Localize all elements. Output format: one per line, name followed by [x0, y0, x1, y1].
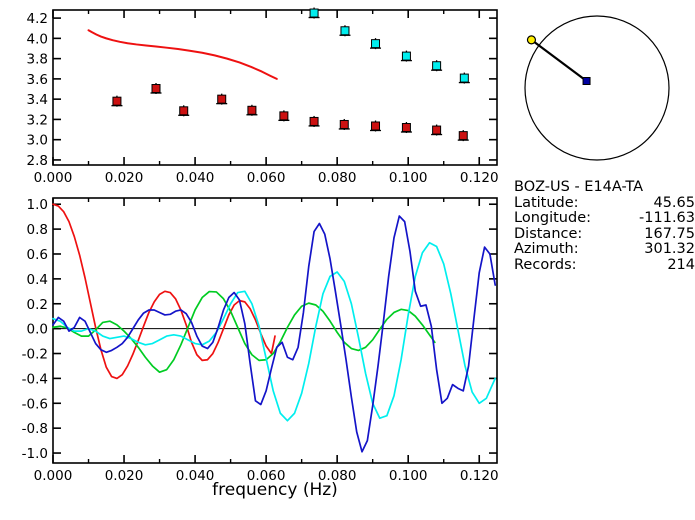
y-tick-label: 0.4 — [27, 272, 48, 288]
y-tick-label: 0.0 — [27, 322, 48, 338]
y-tick-label: 3.0 — [27, 133, 48, 149]
y-tick-label: 2.8 — [27, 153, 48, 169]
info-value: 167.75 — [644, 227, 695, 243]
series-line-theoretical-dispersion-curve — [89, 30, 277, 79]
waveform-plot[interactable]: 0.0000.0200.0400.0600.0800.1000.120-1.0-… — [0, 190, 520, 520]
data-point-marker[interactable] — [433, 126, 441, 134]
data-point-marker[interactable] — [402, 124, 410, 132]
series-line-cyan-trace — [53, 243, 495, 421]
data-point-marker[interactable] — [460, 74, 468, 82]
info-label: Longitude: — [514, 211, 591, 227]
y-tick-label: 1.0 — [27, 197, 48, 213]
figure-root: 0.0000.0200.0400.0600.0800.1000.1202.83.… — [0, 0, 695, 520]
y-tick-label: 4.0 — [27, 31, 48, 47]
x-tick-label: 0.120 — [460, 170, 499, 186]
data-point-marker[interactable] — [433, 62, 441, 70]
x-tick-label: 0.040 — [176, 468, 215, 484]
x-tick-label: 0.080 — [318, 170, 357, 186]
station-info-block: BOZ-US - E14A-TA Latitude:45.65Longitude… — [514, 180, 695, 273]
data-point-marker[interactable] — [113, 97, 121, 105]
x-tick-label: 0.060 — [247, 170, 286, 186]
great-circle-outline — [525, 16, 669, 160]
y-tick-label: -0.8 — [22, 421, 48, 437]
data-point-marker[interactable] — [372, 40, 380, 48]
x-tick-label: 0.020 — [105, 468, 144, 484]
data-point-marker[interactable] — [248, 106, 256, 114]
y-tick-label: 3.8 — [27, 52, 48, 68]
x-tick-label: 0.020 — [105, 170, 144, 186]
y-tick-label: -0.4 — [22, 371, 48, 387]
x-tick-label: 0.100 — [389, 468, 428, 484]
x-tick-label: 0.000 — [34, 170, 73, 186]
station-pair-title: BOZ-US - E14A-TA — [514, 180, 695, 196]
info-label: Azimuth: — [514, 242, 579, 258]
info-label: Records: — [514, 258, 577, 274]
plot-frame — [53, 10, 497, 165]
info-label: Distance: — [514, 227, 582, 243]
y-tick-label: -1.0 — [22, 446, 48, 462]
y-tick-label: -0.6 — [22, 396, 48, 412]
station-info-rows: Latitude:45.65Longitude:-111.63Distance:… — [514, 196, 695, 274]
y-tick-label: 0.2 — [27, 297, 48, 313]
data-point-marker[interactable] — [372, 122, 380, 130]
data-point-marker[interactable] — [459, 132, 467, 140]
info-row: Azimuth:301.32 — [514, 242, 695, 258]
event-marker[interactable] — [583, 78, 590, 85]
ray-path-line — [531, 40, 586, 81]
y-tick-label: 3.2 — [27, 112, 48, 128]
great-circle-inset[interactable] — [502, 4, 692, 179]
data-point-marker[interactable] — [280, 112, 288, 120]
info-value: 45.65 — [653, 196, 695, 212]
data-point-marker[interactable] — [340, 120, 348, 128]
x-tick-label: 0.040 — [176, 170, 215, 186]
data-point-marker[interactable] — [180, 107, 188, 115]
data-point-marker[interactable] — [218, 95, 226, 103]
dispersion-plot[interactable]: 0.0000.0200.0400.0600.0800.1000.1202.83.… — [0, 0, 520, 190]
series-line-green-trace — [53, 292, 435, 373]
x-tick-label: 0.100 — [389, 170, 428, 186]
info-row: Longitude:-111.63 — [514, 211, 695, 227]
data-point-marker[interactable] — [341, 27, 349, 35]
data-point-marker[interactable] — [310, 117, 318, 125]
info-value: 301.32 — [644, 242, 695, 258]
x-tick-label: 0.120 — [460, 468, 499, 484]
x-axis-title: frequency (Hz) — [212, 480, 338, 500]
station-marker[interactable] — [527, 36, 535, 44]
info-value: 214 — [667, 258, 695, 274]
y-tick-label: 4.2 — [27, 11, 48, 27]
info-row: Latitude:45.65 — [514, 196, 695, 212]
data-point-marker[interactable] — [152, 85, 160, 93]
info-label: Latitude: — [514, 196, 579, 212]
info-row: Records:214 — [514, 258, 695, 274]
info-row: Distance:167.75 — [514, 227, 695, 243]
data-point-marker[interactable] — [402, 52, 410, 60]
y-tick-label: 0.6 — [27, 247, 48, 263]
data-point-marker[interactable] — [310, 9, 318, 17]
y-tick-label: 0.8 — [27, 222, 48, 238]
x-tick-label: 0.000 — [34, 468, 73, 484]
plot-frame — [53, 198, 497, 463]
y-tick-label: 3.6 — [27, 72, 48, 88]
y-tick-label: -0.2 — [22, 347, 48, 363]
y-tick-label: 3.4 — [27, 92, 48, 108]
info-value: -111.63 — [639, 211, 695, 227]
